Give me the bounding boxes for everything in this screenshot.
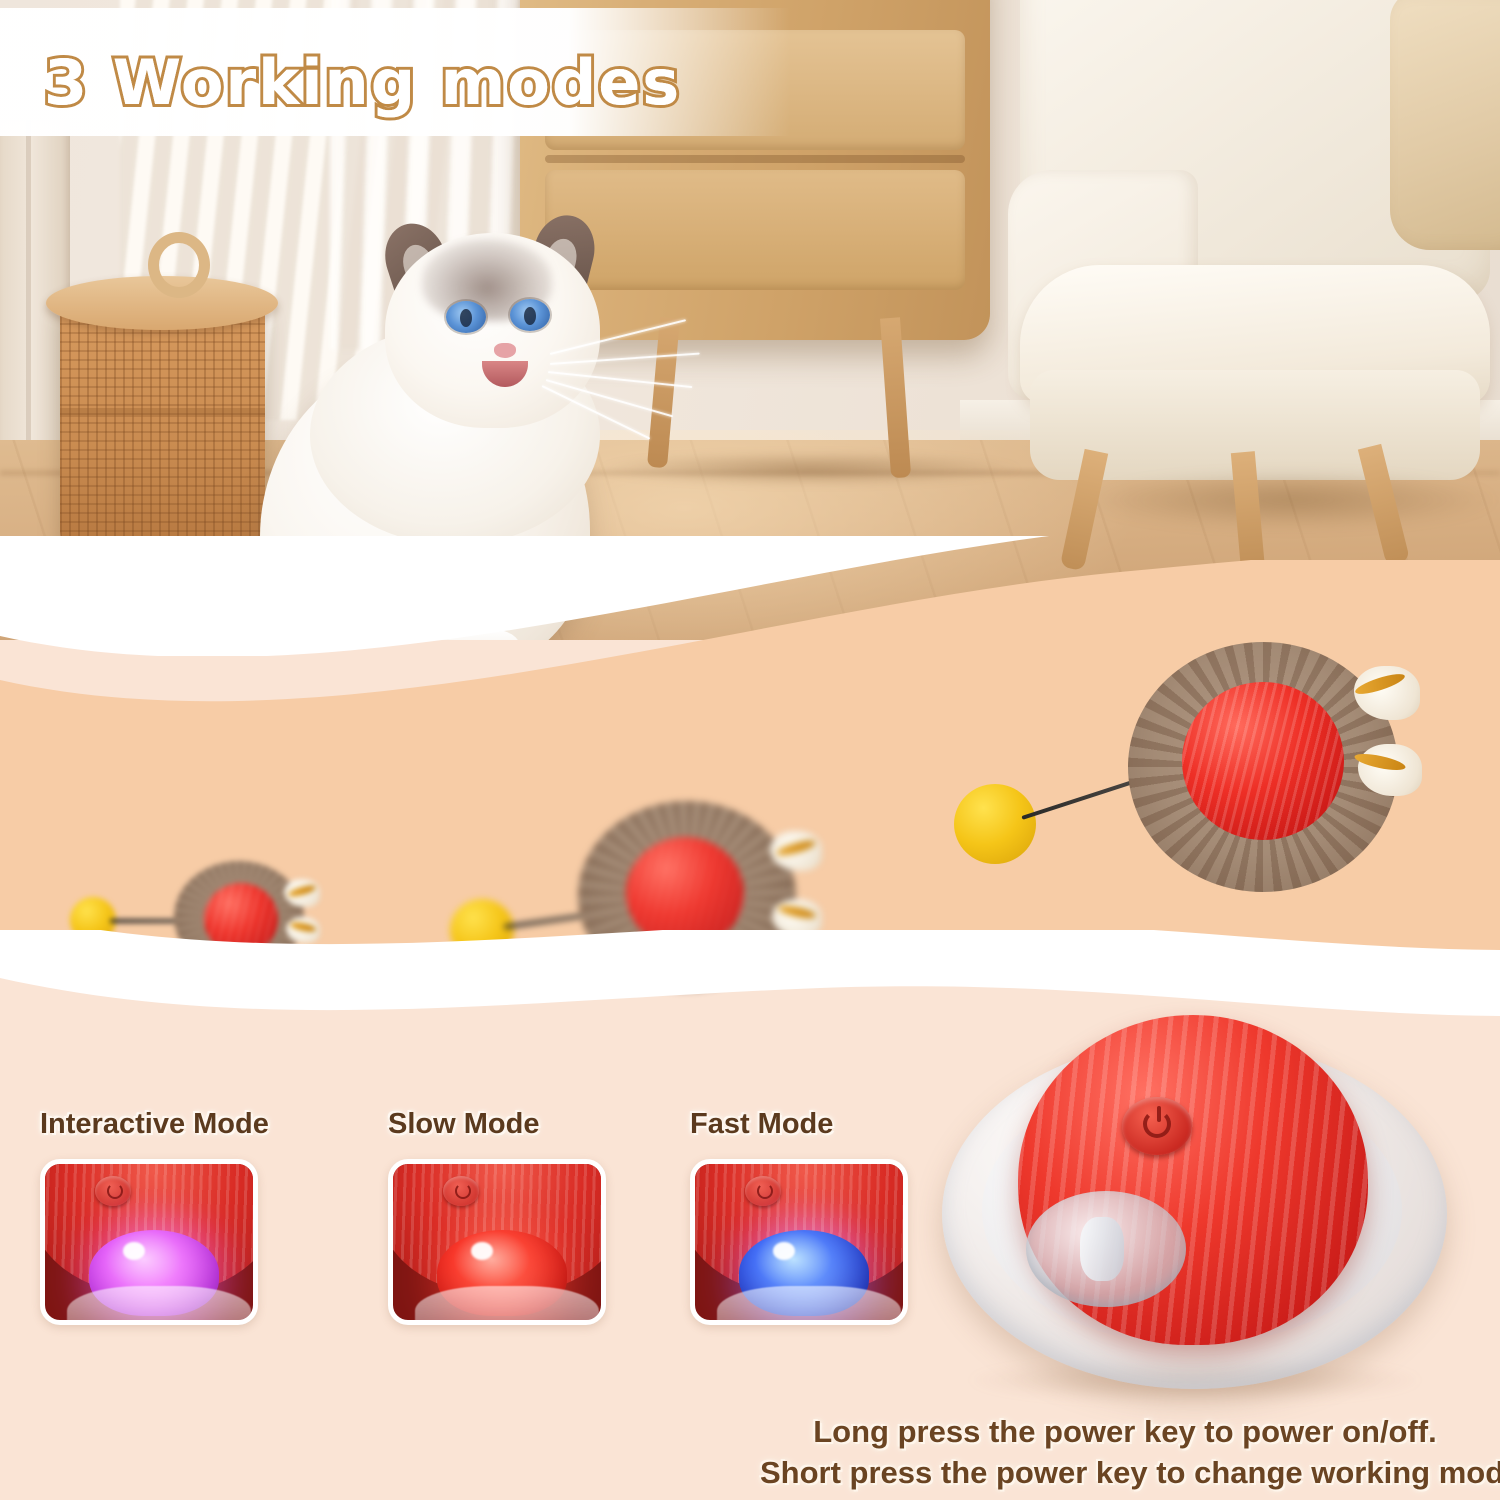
power-icon	[745, 1176, 781, 1206]
mode-label-slow: Slow Mode	[388, 1108, 606, 1141]
mode-fast: Fast Mode	[690, 1108, 908, 1325]
mode-slow: Slow Mode	[388, 1108, 606, 1325]
mode-label-interactive: Interactive Mode	[40, 1108, 269, 1141]
cat-eye	[510, 299, 550, 331]
hero-product	[930, 1005, 1460, 1395]
power-icon	[1143, 1110, 1171, 1138]
mode-thumbnail-interactive	[40, 1159, 258, 1325]
page-title: 3 Working modes	[44, 46, 681, 119]
title-banner: 3 Working modes 3 Working modes	[0, 8, 790, 136]
mode-thumbnail-slow	[388, 1159, 606, 1325]
led-specular	[773, 1242, 795, 1260]
product-infographic: 3 Working modes 3 Working modes	[0, 0, 1500, 1500]
cat-nose	[494, 343, 516, 358]
mode-interactive: Interactive Mode	[40, 1108, 269, 1325]
clear-base	[717, 1286, 901, 1325]
drive-wheel-pin	[1080, 1217, 1124, 1281]
power-icon	[443, 1176, 479, 1206]
rattan-basket-band	[60, 408, 265, 417]
led-specular	[123, 1242, 145, 1260]
armchair-shadow	[1080, 470, 1500, 530]
armchair-pillow	[1390, 0, 1500, 250]
wand-wire	[1021, 777, 1142, 820]
sideboard-drawer-gap	[545, 155, 965, 163]
power-button[interactable]	[1122, 1097, 1192, 1155]
mode-label-fast: Fast Mode	[690, 1108, 908, 1141]
instruction-line-1: Long press the power key to power on/off…	[760, 1412, 1490, 1453]
clear-base	[415, 1286, 599, 1325]
toy-hero-furry	[950, 640, 1470, 890]
toy-ball	[1182, 682, 1344, 840]
power-icon	[95, 1176, 131, 1206]
instructions-block: Long press the power key to power on/off…	[760, 1412, 1490, 1494]
instruction-line-2: Short press the power key to change work…	[760, 1453, 1490, 1494]
rattan-basket-handle	[148, 232, 210, 298]
cat-eye	[446, 301, 486, 333]
pompom	[954, 784, 1036, 864]
led-specular	[471, 1242, 493, 1260]
rattan-basket	[60, 300, 265, 550]
mode-thumbnail-fast	[690, 1159, 908, 1325]
clear-base	[67, 1286, 251, 1325]
